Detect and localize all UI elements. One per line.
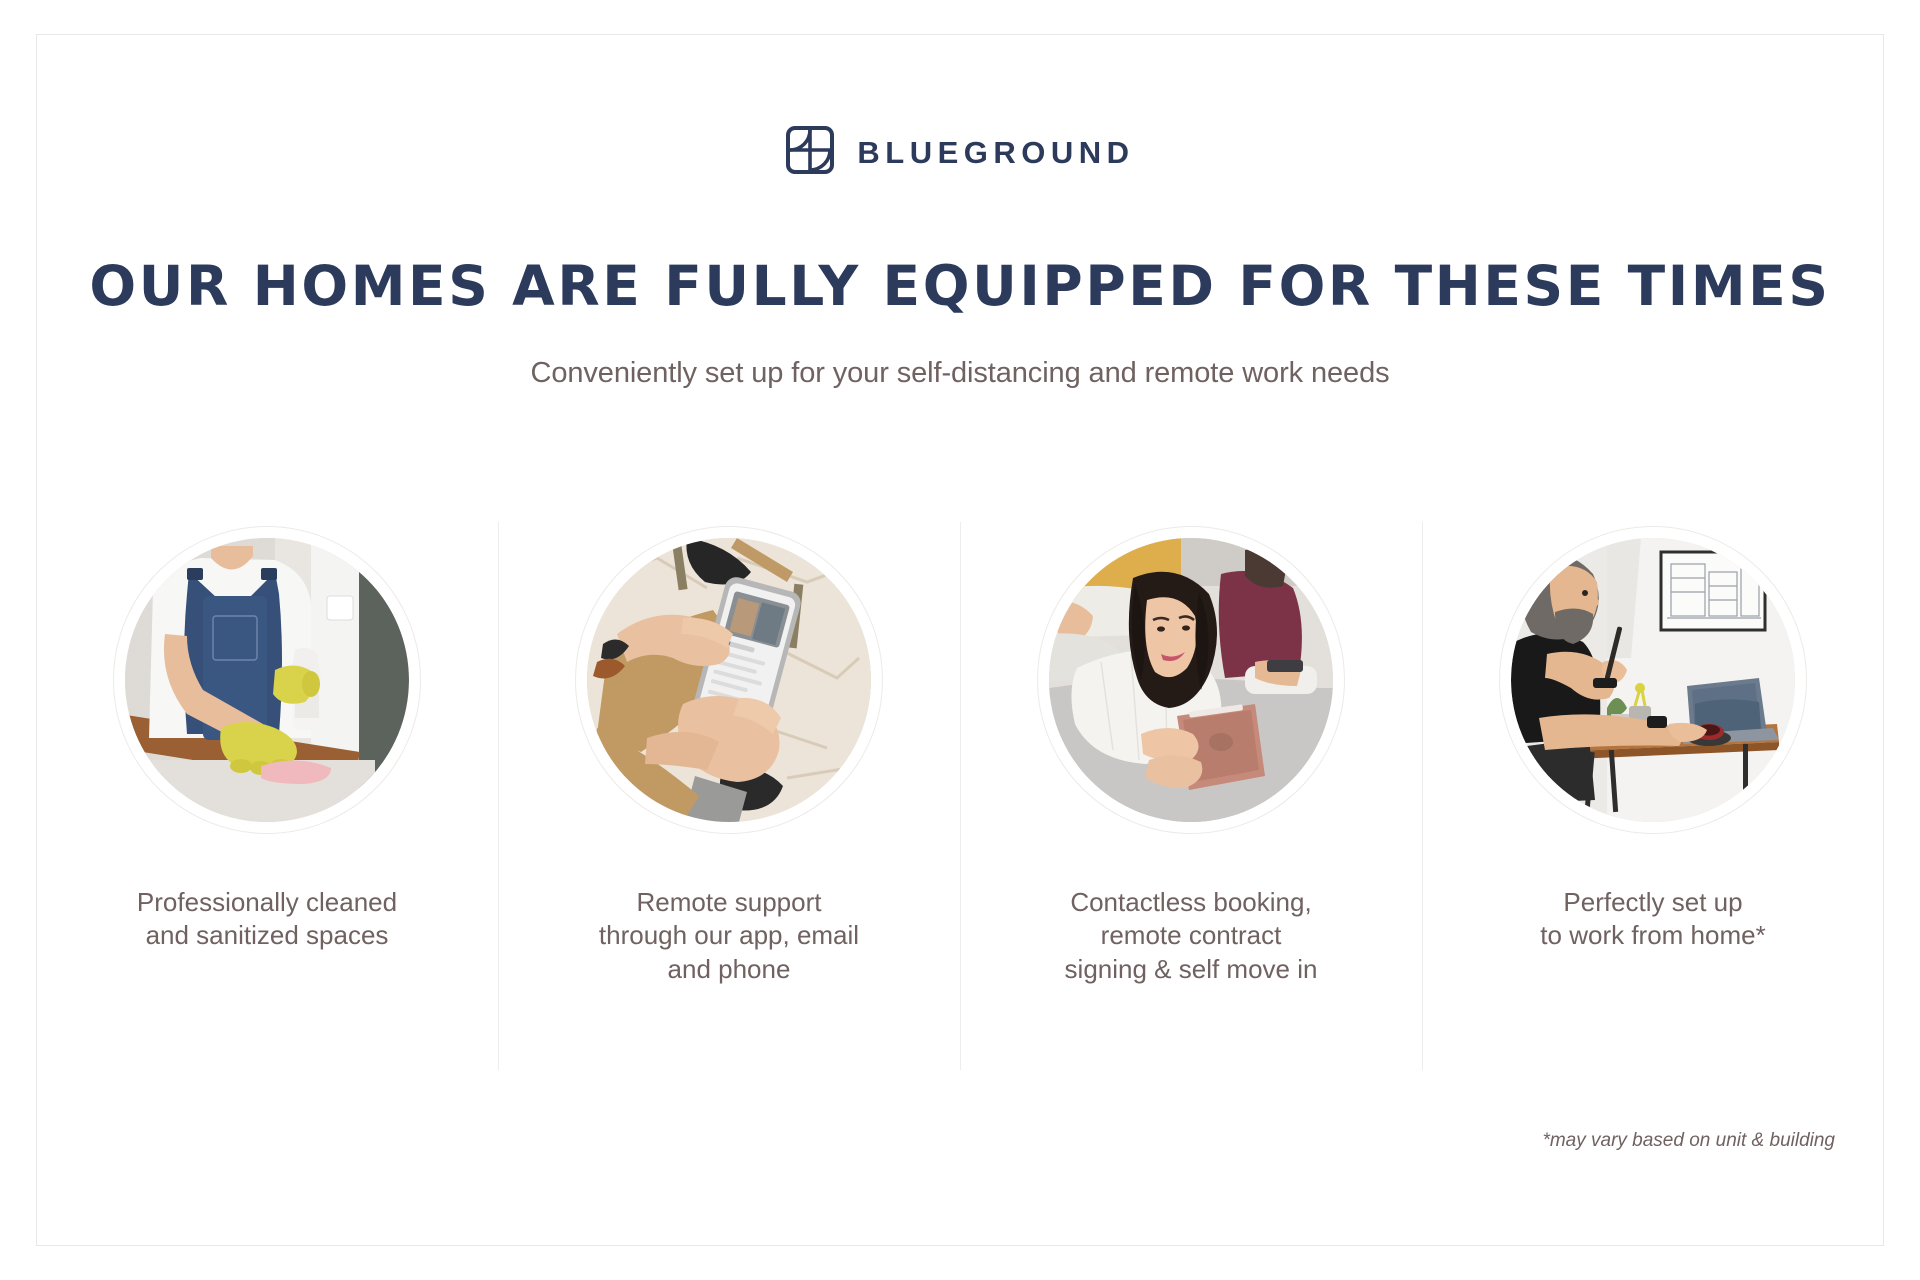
blueground-logo-icon bbox=[785, 125, 835, 180]
caption-line: remote contract bbox=[1065, 919, 1318, 952]
photo-ring bbox=[1499, 526, 1807, 834]
cleaner-sanitizing-counter-photo bbox=[125, 538, 409, 822]
feature-column-work-from-home: Perfectly set up to work from home* bbox=[1422, 522, 1884, 1070]
man-working-from-home-desk-photo bbox=[1511, 538, 1795, 822]
page-title: OUR HOMES ARE FULLY EQUIPPED FOR THESE T… bbox=[0, 256, 1920, 317]
feature-caption: Perfectly set up to work from home* bbox=[1540, 886, 1765, 953]
caption-line: Remote support bbox=[599, 886, 859, 919]
brand-name: BLUEGROUND bbox=[857, 137, 1134, 168]
caption-line: Perfectly set up bbox=[1540, 886, 1765, 919]
caption-line: and sanitized spaces bbox=[137, 919, 397, 952]
hands-using-phone-app-photo bbox=[587, 538, 871, 822]
page-subtitle: Conveniently set up for your self-distan… bbox=[0, 355, 1920, 393]
footnote-disclaimer: *may vary based on unit & building bbox=[1542, 1130, 1835, 1152]
caption-line: signing & self move in bbox=[1065, 953, 1318, 986]
feature-caption: Professionally cleaned and sanitized spa… bbox=[137, 886, 397, 953]
caption-line: and phone bbox=[599, 953, 859, 986]
photo-ring bbox=[1037, 526, 1345, 834]
feature-columns: Professionally cleaned and sanitized spa… bbox=[36, 522, 1884, 1070]
feature-caption: Remote support through our app, email an… bbox=[599, 886, 859, 986]
woman-on-bed-with-tablet-photo bbox=[1049, 538, 1333, 822]
caption-line: to work from home* bbox=[1540, 919, 1765, 952]
feature-column-cleaning: Professionally cleaned and sanitized spa… bbox=[36, 522, 498, 1070]
poster-page: BLUEGROUND OUR HOMES ARE FULLY EQUIPPED … bbox=[0, 0, 1920, 1280]
feature-caption: Contactless booking, remote contract sig… bbox=[1065, 886, 1318, 986]
feature-column-booking: Contactless booking, remote contract sig… bbox=[960, 522, 1422, 1070]
photo-ring bbox=[575, 526, 883, 834]
brand-lockup: BLUEGROUND bbox=[0, 125, 1920, 180]
caption-line: Contactless booking, bbox=[1065, 886, 1318, 919]
feature-column-support: Remote support through our app, email an… bbox=[498, 522, 960, 1070]
caption-line: through our app, email bbox=[599, 919, 859, 952]
photo-ring bbox=[113, 526, 421, 834]
caption-line: Professionally cleaned bbox=[137, 886, 397, 919]
